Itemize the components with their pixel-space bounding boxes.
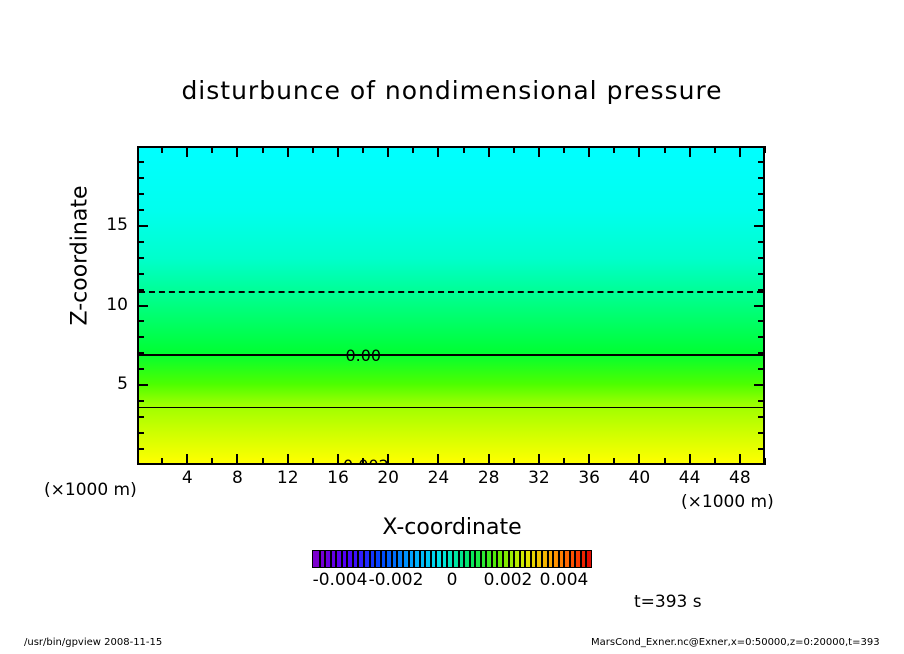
x-tick-label: 12 [268,468,308,488]
x-tick-minor [312,458,314,465]
z-tick-minor [137,193,144,195]
x-tick-major-top [437,146,439,157]
x-tick-minor [613,458,615,465]
x-tick-minor-top [764,146,766,153]
x-tick-major [689,454,691,465]
colorbar-separator [413,551,415,567]
colorbar-separator [496,551,498,567]
x-tick-major-top [186,146,188,157]
x-tick-major-top [588,146,590,157]
x-tick-minor-top [664,146,666,153]
colorbar-separator [408,551,410,567]
z-tick-major [137,305,148,307]
colorbar-separator [535,551,537,567]
contour-label-lower: 0.002 [340,456,392,465]
x-tick-minor [412,458,414,465]
x-tick-minor [714,458,716,465]
z-tick-minor [137,336,144,338]
x-tick-major [186,454,188,465]
x-tick-major [739,454,741,465]
x-tick-label: 44 [670,468,710,488]
z-tick-minor [137,320,144,322]
z-tick-minor-right [758,289,765,291]
z-tick-major-right [754,305,765,307]
x-tick-label: 36 [569,468,609,488]
z-tick-label: 5 [96,374,128,394]
z-tick-minor [137,241,144,243]
x-tick-major [337,454,339,465]
x-tick-major [387,454,389,465]
colorbar-separator [435,551,437,567]
x-tick-label: 32 [519,468,559,488]
colorbar-separator [391,551,393,567]
colorbar-separator [491,551,493,567]
colorbar-tick-label: 0.004 [529,570,599,590]
x-tick-minor [764,458,766,465]
colorbar-separator [341,551,343,567]
z-tick-minor-right [758,161,765,163]
x-tick-major-top [739,146,741,157]
z-tick-minor-right [758,336,765,338]
x-tick-major [287,454,289,465]
time-annotation: t=393 s [634,592,702,612]
pressure-field-heatmap [139,148,763,463]
x-tick-minor-top [563,146,565,153]
x-tick-label: 24 [418,468,458,488]
x-tick-minor-top [513,146,515,153]
colorbar-separator [402,551,404,567]
colorbar-separator [319,551,321,567]
z-tick-label: 15 [96,215,128,235]
x-tick-minor [563,458,565,465]
colorbar-separator [541,551,543,567]
x-tick-minor-top [714,146,716,153]
x-tick-major [437,454,439,465]
z-tick-minor [137,273,144,275]
x-tick-major-top [236,146,238,157]
colorbar-separator [424,551,426,567]
x-tick-major-top [638,146,640,157]
z-tick-minor-right [758,273,765,275]
contour-line-0 [139,354,763,356]
x-tick-minor-top [211,146,213,153]
x-tick-major-top [287,146,289,157]
x-axis-title: X-coordinate [0,515,904,540]
colorbar-separator [547,551,549,567]
x-tick-minor [513,458,515,465]
x-tick-minor-top [312,146,314,153]
z-tick-minor [137,432,144,434]
z-tick-minor [137,448,144,450]
colorbar-separator [396,551,398,567]
page-title: disturbunce of nondimensional pressure [0,76,904,105]
colorbar-separator [335,551,337,567]
x-tick-label: 4 [167,468,207,488]
colorbar-separator [530,551,532,567]
x-tick-major-top [538,146,540,157]
colorbar-separator [524,551,526,567]
colorbar-separator [346,551,348,567]
z-tick-minor [137,352,144,354]
x-tick-label: 16 [318,468,358,488]
z-tick-minor [137,289,144,291]
z-tick-minor-right [758,241,765,243]
x-units-right-label: (×1000 m) [681,492,774,512]
z-tick-minor [137,209,144,211]
colorbar-separator [352,551,354,567]
z-tick-minor-right [758,448,765,450]
colorbar-separator [330,551,332,567]
x-tick-minor [664,458,666,465]
colorbar-separator [519,551,521,567]
plot-area: 0.000.002 [137,146,765,465]
contour-label-zero: 0.00 [342,346,384,365]
colorbar-separator [357,551,359,567]
z-tick-minor-right [758,352,765,354]
colorbar-separator [446,551,448,567]
colorbar-separator [563,551,565,567]
colorbar-separators [313,551,591,567]
colorbar-separator [380,551,382,567]
x-tick-major [638,454,640,465]
colorbar-separator [474,551,476,567]
z-tick-minor [137,368,144,370]
z-tick-major-right [754,225,765,227]
z-tick-minor-right [758,320,765,322]
x-tick-minor [262,458,264,465]
x-tick-minor-top [412,146,414,153]
z-tick-minor-right [758,177,765,179]
colorbar-separator [502,551,504,567]
contour-line-0.002 [139,464,763,465]
colorbar-separator [463,551,465,567]
colorbar-separator [552,551,554,567]
x-tick-major-top [689,146,691,157]
colorbar-separator [441,551,443,567]
colorbar-separator [430,551,432,567]
x-tick-minor [362,458,364,465]
x-tick-minor-top [463,146,465,153]
colorbar-separator [585,551,587,567]
x-tick-minor [463,458,465,465]
x-tick-minor-top [613,146,615,153]
colorbar [312,550,592,568]
colorbar-separator [419,551,421,567]
z-tick-major [137,225,148,227]
z-tick-minor-right [758,193,765,195]
x-tick-label: 28 [469,468,509,488]
x-tick-minor-top [161,146,163,153]
x-tick-label: 8 [217,468,257,488]
colorbar-separator [458,551,460,567]
z-tick-label: 10 [96,295,128,315]
colorbar-separator [580,551,582,567]
y-axis-title: Z-coordinate [68,156,93,356]
x-tick-major [236,454,238,465]
colorbar-separator [374,551,376,567]
x-tick-label: 40 [619,468,659,488]
colorbar-separator [363,551,365,567]
x-tick-minor-top [362,146,364,153]
colorbar-separator [569,551,571,567]
colorbar-separator [385,551,387,567]
x-tick-major [538,454,540,465]
x-tick-major [488,454,490,465]
z-tick-minor-right [758,432,765,434]
colorbar-separator [369,551,371,567]
x-tick-minor [211,458,213,465]
colorbar-separator [480,551,482,567]
x-tick-label: 20 [368,468,408,488]
contour-line-0.002 [139,407,763,408]
z-tick-minor-right [758,416,765,418]
x-tick-minor-top [262,146,264,153]
z-tick-minor [137,177,144,179]
x-units-left-label: (×1000 m) [44,480,137,500]
x-tick-major [588,454,590,465]
x-tick-major-top [387,146,389,157]
x-tick-minor [161,458,163,465]
colorbar-separator [324,551,326,567]
colorbar-separator [452,551,454,567]
x-tick-major-top [488,146,490,157]
z-tick-minor-right [758,368,765,370]
z-tick-minor [137,400,144,402]
z-tick-minor [137,161,144,163]
z-tick-minor-right [758,209,765,211]
colorbar-separator [469,551,471,567]
z-tick-major [137,384,148,386]
footer-left-text: /usr/bin/gpview 2008-11-15 [24,637,162,648]
colorbar-separator [513,551,515,567]
x-tick-major-top [337,146,339,157]
footer-right-text: MarsCond_Exner.nc@Exner,x=0:50000,z=0:20… [591,637,880,648]
contour-line--0.001 [139,291,763,293]
z-tick-minor [137,257,144,259]
z-tick-major-right [754,384,765,386]
z-tick-minor [137,416,144,418]
colorbar-separator [574,551,576,567]
colorbar-separator [508,551,510,567]
x-tick-label: 48 [720,468,760,488]
z-tick-minor-right [758,257,765,259]
z-tick-minor-right [758,400,765,402]
colorbar-separator [558,551,560,567]
colorbar-separator [485,551,487,567]
